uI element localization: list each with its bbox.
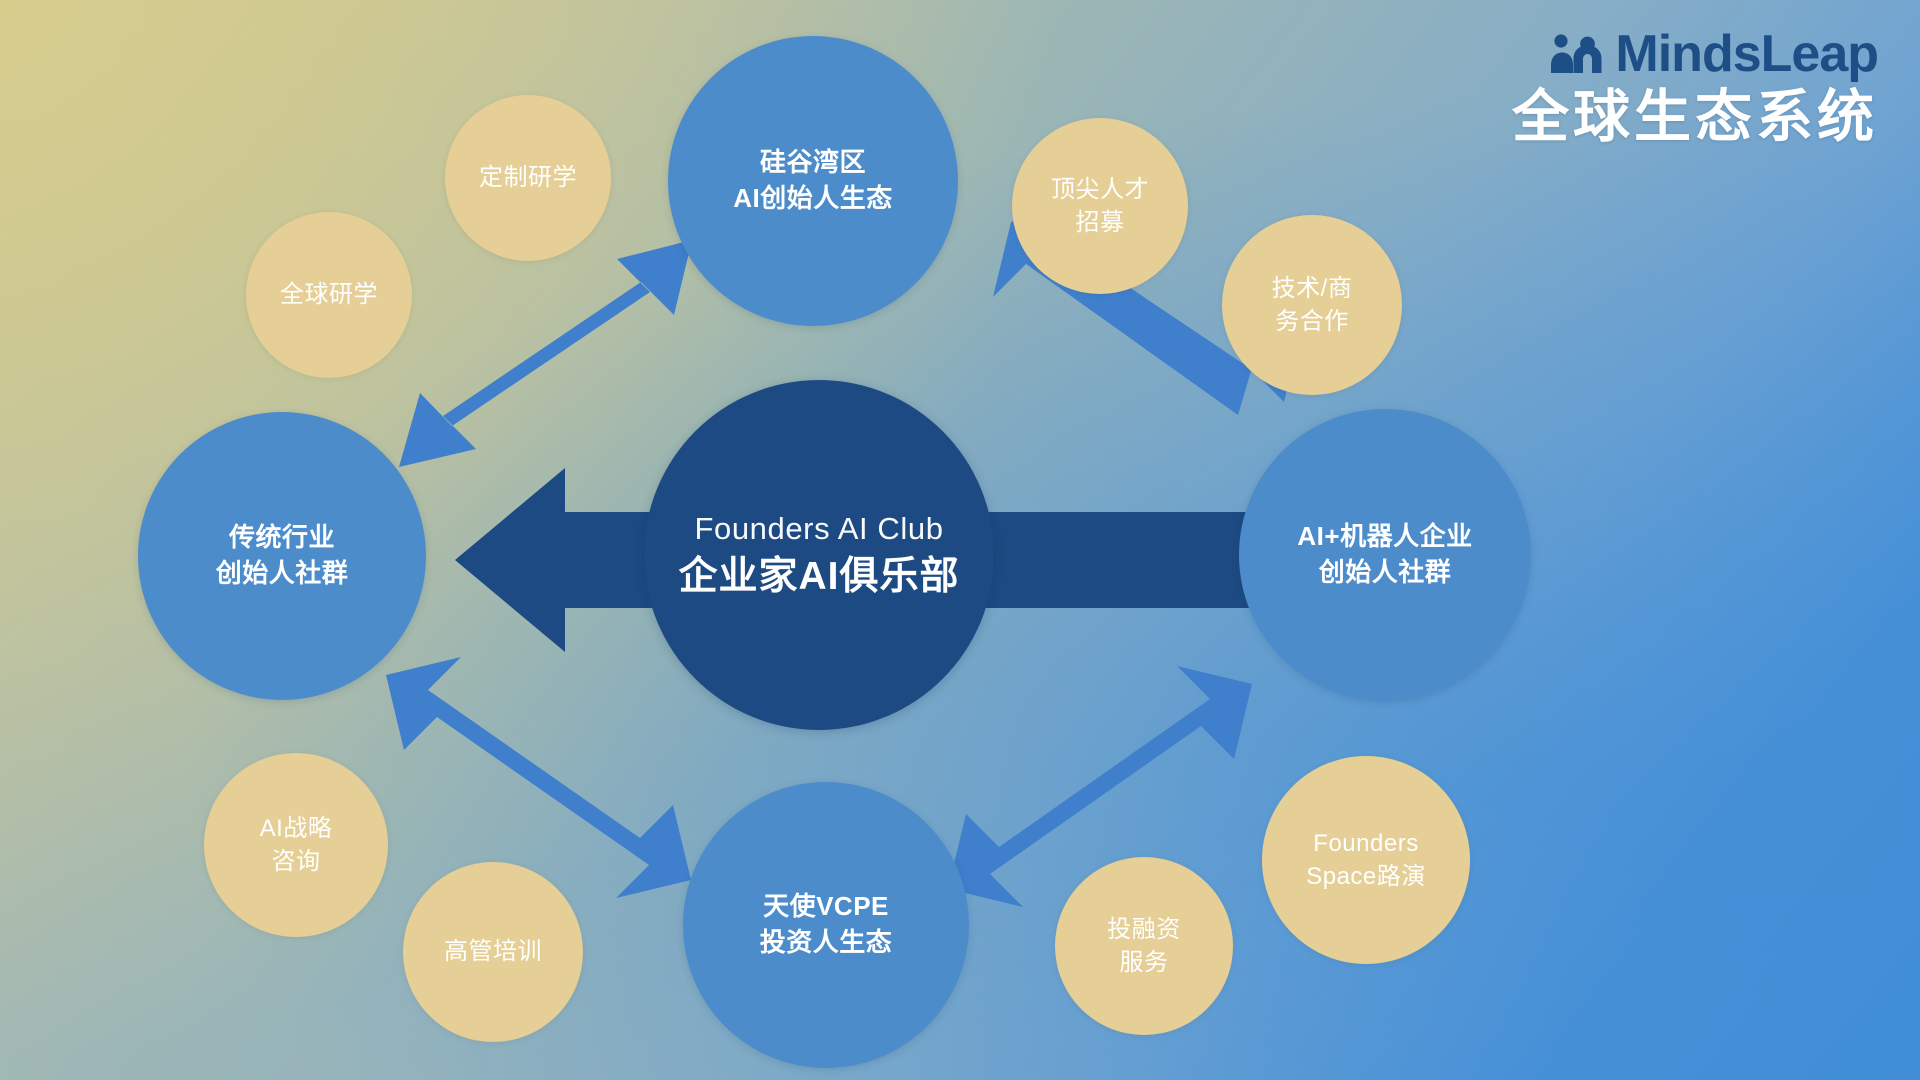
node-sat-talent-recruit[interactable]: 顶尖人才 招募 — [1012, 118, 1188, 294]
mindsleap-people-icon — [1549, 32, 1609, 76]
node-line-1: 全球研学 — [280, 278, 378, 311]
node-line-1: 技术/商 — [1272, 272, 1353, 305]
node-line-1: 定制研学 — [479, 161, 577, 194]
node-sat-tech-biz-coop[interactable]: 技术/商 务合作 — [1222, 215, 1402, 395]
node-line-2: AI创始人生态 — [733, 181, 893, 217]
node-line-2: 务合作 — [1275, 305, 1349, 338]
node-line-2: 咨询 — [272, 845, 321, 878]
node-line-2: Space路演 — [1306, 860, 1426, 893]
node-sat-ai-strategy[interactable]: AI战略 咨询 — [204, 753, 388, 937]
node-line-2: 服务 — [1120, 946, 1169, 979]
node-sat-invest-service[interactable]: 投融资 服务 — [1055, 857, 1233, 1035]
node-line-1: 天使VCPE — [763, 889, 889, 925]
arrow-diagonal-topleft — [399, 240, 692, 467]
diagram-canvas: MindsLeap 全球生态系统 Founders AI Club 企业家AI俱… — [0, 0, 1920, 1080]
node-line-2: 创始人社群 — [216, 556, 349, 592]
node-sat-global-study[interactable]: 全球研学 — [246, 212, 412, 378]
node-main-silicon-valley[interactable]: 硅谷湾区 AI创始人生态 — [668, 36, 958, 326]
node-sat-exec-training[interactable]: 高管培训 — [403, 862, 583, 1042]
node-line-1: 传统行业 — [229, 520, 335, 556]
node-line-1: AI战略 — [260, 812, 333, 845]
node-line-1: Founders — [1313, 827, 1418, 860]
node-line-2: 创始人社群 — [1319, 555, 1452, 591]
brand-subtitle: 全球生态系统 — [1512, 86, 1878, 150]
brand-block: MindsLeap 全球生态系统 — [1512, 28, 1878, 150]
node-sat-custom-study[interactable]: 定制研学 — [445, 95, 611, 261]
node-main-angel-vcpe[interactable]: 天使VCPE 投资人生态 — [683, 782, 969, 1068]
node-line-1: 顶尖人才 — [1051, 173, 1149, 206]
node-line-1: 硅谷湾区 — [760, 145, 866, 181]
arrow-diagonal-bottomleft — [386, 657, 691, 898]
node-center-founders-ai-club[interactable]: Founders AI Club 企业家AI俱乐部 — [644, 380, 994, 730]
node-main-ai-robotics[interactable]: AI+机器人企业 创始人社群 — [1239, 409, 1531, 701]
node-main-traditional-industry[interactable]: 传统行业 创始人社群 — [138, 412, 426, 700]
node-line-2: 招募 — [1076, 206, 1125, 239]
node-line-1: 高管培训 — [444, 935, 542, 968]
brand-wordmark: MindsLeap — [1615, 28, 1878, 80]
node-line-2: 投资人生态 — [760, 925, 893, 961]
node-line-1: AI+机器人企业 — [1297, 519, 1472, 555]
node-line-1: 投融资 — [1107, 913, 1181, 946]
brand-row: MindsLeap — [1512, 28, 1878, 80]
center-title-cn: 企业家AI俱乐部 — [678, 554, 959, 601]
node-sat-founders-space[interactable]: Founders Space路演 — [1262, 756, 1470, 964]
center-title-en: Founders AI Club — [694, 510, 943, 547]
